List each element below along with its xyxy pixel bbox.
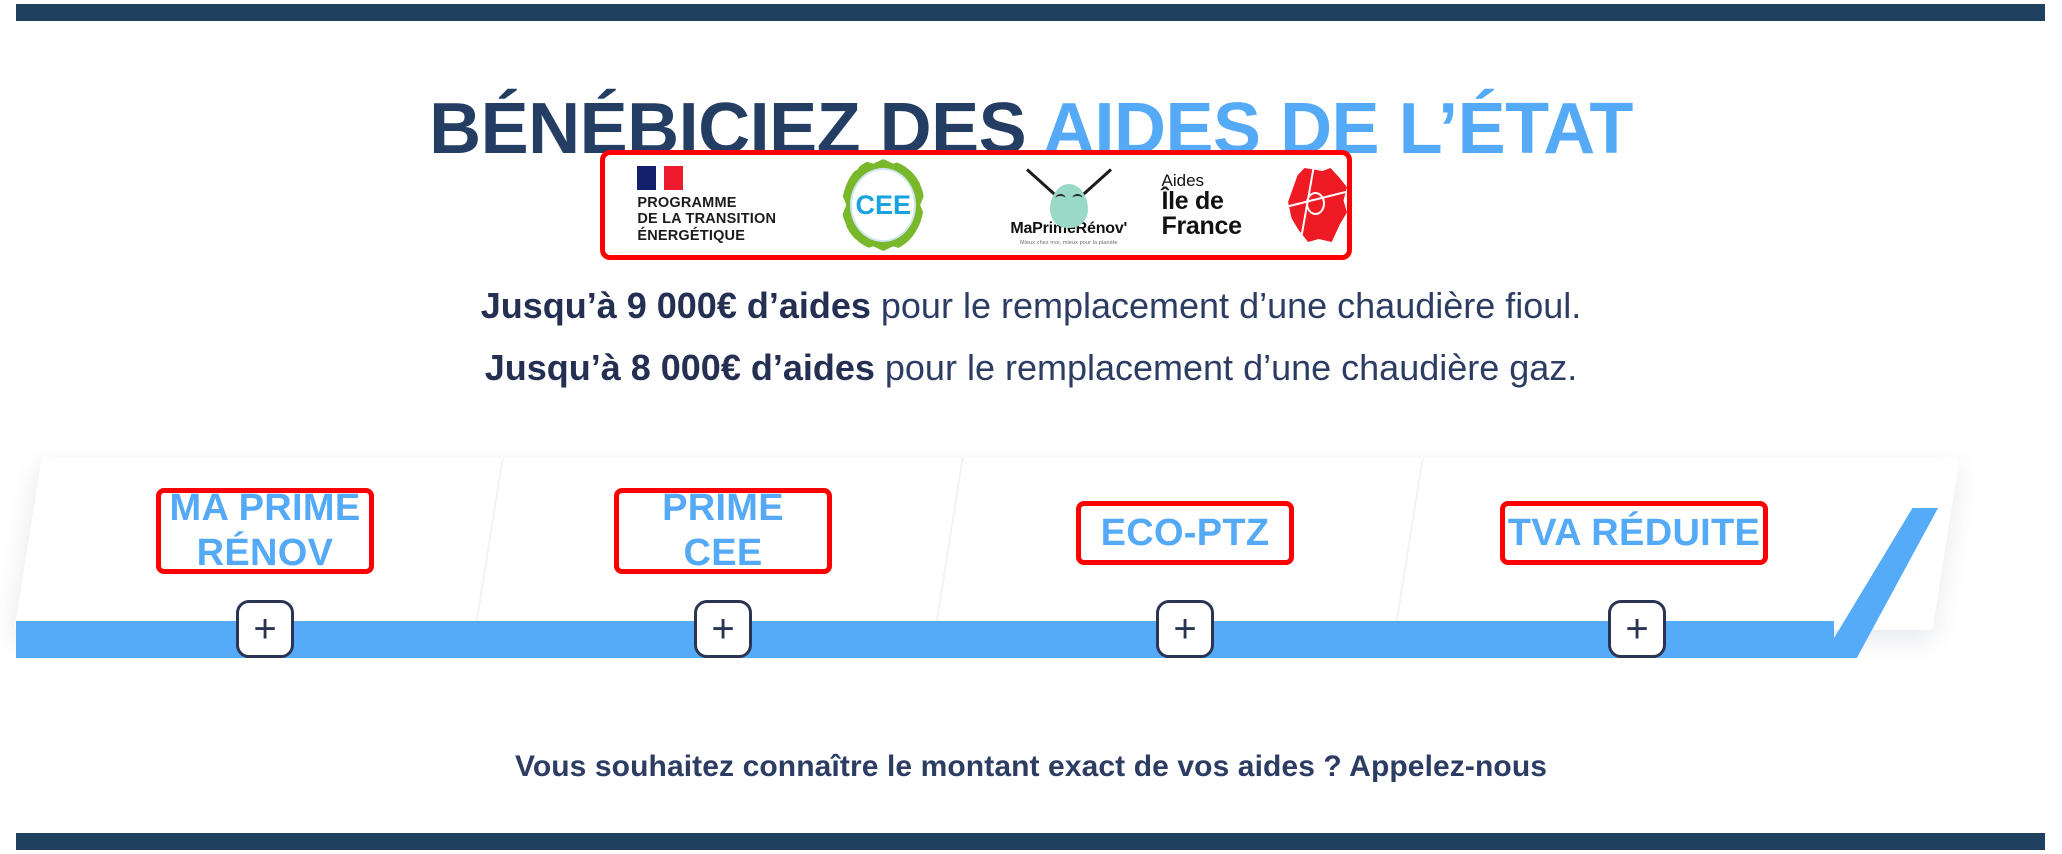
aid-amounts: Jusqu’à 9 000€ d’aides pour le remplacem…: [0, 275, 2062, 399]
aid-amount-line: Jusqu’à 9 000€ d’aides pour le remplacem…: [0, 275, 2062, 337]
programme-logo-lines: PROGRAMME DE LA TRANSITION ÉNERGÉTIQUE: [637, 195, 776, 245]
logo-cell-programme: PROGRAMME DE LA TRANSITION ÉNERGÉTIQUE: [605, 155, 791, 255]
programme-line-2: DE LA TRANSITION: [637, 211, 776, 228]
expand-button-eco-ptz[interactable]: +: [1156, 600, 1214, 658]
smiling-eyes-icon: [1055, 194, 1082, 202]
french-flag-icon: [637, 166, 683, 190]
logo-cell-ile-de-france: Aides Île de France: [1162, 155, 1348, 255]
ile-de-france-map-icon: [1288, 168, 1347, 242]
panel-divider: [934, 458, 963, 630]
bottom-rule: [16, 833, 2045, 850]
leaf-blob-icon: [1050, 184, 1088, 228]
partner-logos-frame: PROGRAMME DE LA TRANSITION ÉNERGÉTIQUE C…: [600, 150, 1352, 260]
cee-logo: CEE: [842, 159, 924, 251]
footer-question: Vous souhaitez connaître le montant exac…: [0, 750, 2062, 784]
cee-logo-text: CEE: [855, 190, 911, 221]
aid-button-tva-reduite[interactable]: TVA RÉDUITE: [1500, 501, 1768, 565]
aid-amount-line: Jusqu’à 8 000€ d’aides pour le remplacem…: [0, 337, 2062, 399]
aid-button-ma-prime-renov[interactable]: MA PRIME RÉNOV: [156, 488, 374, 574]
page-root: BÉNÉBICIEZ DES AIDES DE L’ÉTAT PROGRAMME…: [0, 0, 2062, 854]
aid-amount-rest: pour le remplacement d’une chaudière gaz…: [875, 347, 1577, 388]
aid-button-eco-ptz[interactable]: ECO-PTZ: [1076, 501, 1294, 565]
expand-button-ma-prime-renov[interactable]: +: [236, 600, 294, 658]
logo-cell-cee: CEE: [791, 155, 977, 255]
panel-divider: [1394, 458, 1423, 630]
logo-cell-maprimerenov: MaPrimeRénov' Mieux chez moi, mieux pour…: [976, 155, 1162, 255]
programme-line-3: ÉNERGÉTIQUE: [637, 228, 776, 245]
top-rule: [16, 4, 2045, 21]
aid-amount-strong: Jusqu’à 8 000€ d’aides: [485, 347, 875, 388]
aides-ile-de-france-logo: Aides Île de France: [1162, 168, 1348, 242]
aid-amount-rest: pour le remplacement d’une chaudière fio…: [871, 285, 1581, 326]
aid-amount-strong: Jusqu’à 9 000€ d’aides: [481, 285, 871, 326]
aid-button-prime-cee[interactable]: PRIME CEE: [614, 488, 832, 574]
idf-label-big: Île de France: [1162, 189, 1275, 239]
panel-divider: [474, 458, 503, 630]
idf-labels: Aides Île de France: [1162, 172, 1275, 239]
house-roof-icon: [1021, 164, 1117, 216]
idf-label-small: Aides: [1162, 172, 1205, 189]
programme-transition-energetique-logo: PROGRAMME DE LA TRANSITION ÉNERGÉTIQUE: [619, 166, 776, 245]
maprimerenov-tagline: Mieux chez moi, mieux pour la planète: [1020, 240, 1118, 246]
expand-button-tva-reduite[interactable]: +: [1608, 600, 1666, 658]
expand-button-prime-cee[interactable]: +: [694, 600, 752, 658]
programme-line-1: PROGRAMME: [637, 195, 776, 212]
maprimerenov-logo: MaPrimeRénov' Mieux chez moi, mieux pour…: [1010, 164, 1127, 246]
